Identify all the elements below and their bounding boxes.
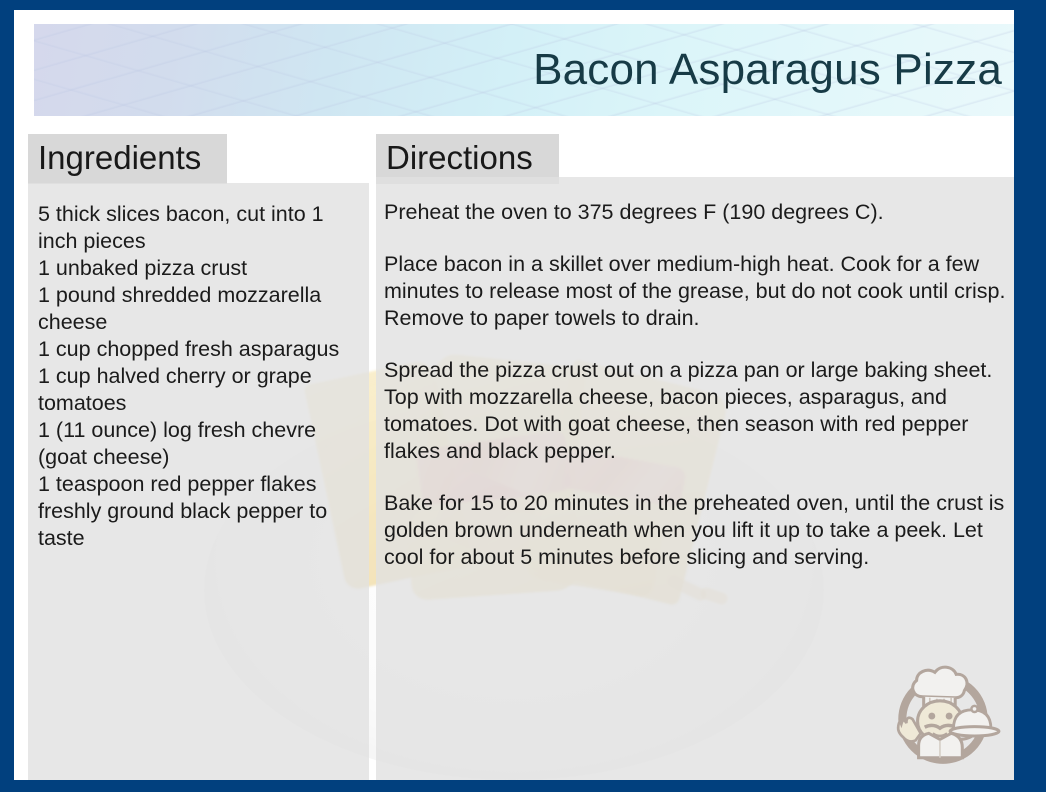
list-item: 1 pound shredded mozzarella cheese (38, 282, 361, 336)
list-item: 1 unbaked pizza crust (38, 255, 361, 282)
list-item: 1 (11 ounce) log fresh chevre (goat chee… (38, 417, 361, 471)
chef-mascot-icon (882, 652, 1004, 774)
list-item: 1 cup halved cherry or grape tomatoes (38, 363, 361, 417)
title-banner: Bacon Asparagus Pizza (34, 24, 1014, 116)
list-item: 1 teaspoon red pepper flakes (38, 471, 361, 498)
directions-list: Preheat the oven to 375 degrees F (190 d… (376, 177, 1014, 571)
list-item: 1 cup chopped fresh asparagus (38, 336, 361, 363)
recipe-card: Bacon Asparagus Pizza Ingredients 5 thic… (0, 0, 1046, 792)
list-item: freshly ground black pepper to taste (38, 498, 361, 552)
list-item: Place bacon in a skillet over medium-hig… (384, 251, 1008, 332)
page-surface: Bacon Asparagus Pizza Ingredients 5 thic… (14, 10, 1014, 780)
list-item: Bake for 15 to 20 minutes in the preheat… (384, 490, 1008, 571)
list-item: Spread the pizza crust out on a pizza pa… (384, 357, 1008, 465)
ingredients-list: 5 thick slices bacon, cut into 1 inch pi… (28, 183, 369, 552)
list-item: 5 thick slices bacon, cut into 1 inch pi… (38, 201, 361, 255)
ingredients-panel: 5 thick slices bacon, cut into 1 inch pi… (28, 183, 369, 780)
list-item: Preheat the oven to 375 degrees F (190 d… (384, 199, 1008, 226)
page-title: Bacon Asparagus Pizza (533, 45, 1002, 95)
ingredients-heading: Ingredients (28, 134, 227, 184)
